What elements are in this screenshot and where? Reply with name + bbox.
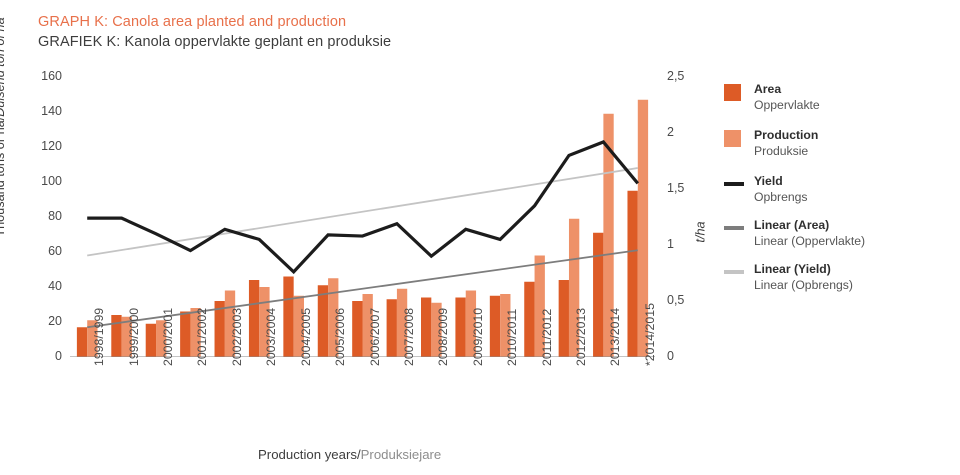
x-axis-tick-label: 1999/2000 [127,308,141,366]
chart-title-afrikaans: GRAFIEK K: Kanola oppervlakte geplant en… [38,34,391,50]
legend-label-af: Oppervlakte [754,97,820,113]
y-axis-right-tick: 1,5 [667,181,701,195]
legend-text: Linear (Area)Linear (Oppervlakte) [754,218,865,249]
legend-label-en: Area [754,82,820,97]
x-axis-tick-label: 2011/2012 [540,309,554,366]
y-axis-left-tick: 0 [28,349,62,363]
x-axis-tick-label: 2004/2005 [299,308,313,366]
y-axis-left-title: Thousand tons or ha/Duisend ton of ha [0,0,7,277]
legend-label-en: Production [754,128,818,143]
y-axis-right-tick: 0 [667,349,701,363]
trendline-yield [87,168,638,256]
y-axis-left-title-en: Thousand tons or ha/ [0,117,7,237]
bar-area [111,315,121,357]
bar-area [455,298,465,358]
y-axis-left-tick: 120 [28,139,62,153]
legend-label-af: Linear (Opbrengs) [754,277,853,293]
legend-label-af: Produksie [754,143,818,159]
x-axis-tick-label: 2001/2002 [195,308,209,366]
bar-area [593,233,603,357]
legend-label-en: Yield [754,174,808,189]
y-axis-right-tick: 2 [667,125,701,139]
x-axis-tick-label: 2009/2010 [471,308,485,366]
x-axis-tick-label: 2008/2009 [436,308,450,366]
chart-title-english: GRAPH K: Canola area planted and product… [38,14,346,30]
line-yield [87,142,638,272]
x-axis-title-af: Produksiejare [361,447,442,462]
x-axis-title: Production years/Produksiejare [258,447,441,462]
x-axis-tick-label: 2005/2006 [333,308,347,366]
y-axis-left-tick: 60 [28,244,62,258]
legend-line-icon [724,226,744,230]
y-axis-left-tick: 20 [28,314,62,328]
bar-area [490,296,500,357]
x-axis-tick-label: 2007/2008 [402,308,416,366]
legend-text: YieldOpbrengs [754,174,808,205]
x-axis-tick-label: *2014/2015 [643,303,657,366]
x-axis-tick-label: 2013/2014 [608,308,622,366]
bar-area [352,301,362,357]
legend-text: AreaOppervlakte [754,82,820,113]
legend-line-icon [724,182,744,186]
bar-area [77,327,87,357]
y-axis-left-tick: 100 [28,174,62,188]
y-axis-left-tick: 140 [28,104,62,118]
legend-label-af: Opbrengs [754,189,808,205]
legend-text: Linear (Yield)Linear (Opbrengs) [754,262,853,293]
legend-label-en: Linear (Area) [754,218,865,233]
x-axis-tick-label: 2010/2011 [505,309,519,366]
bar-area [283,277,293,358]
plot-area [70,77,655,357]
bar-area [559,280,569,357]
bar-area [421,298,431,358]
x-axis-tick-label: 2002/2003 [230,308,244,366]
chart-svg [70,77,655,357]
y-axis-right-tick: 2,5 [667,69,701,83]
x-axis-title-en: Production years/ [258,447,361,462]
chart-canvas: GRAPH K: Canola area planted and product… [0,0,960,475]
bar-area [249,280,259,357]
y-axis-left-tick: 40 [28,279,62,293]
legend-text: ProductionProduksie [754,128,818,159]
x-axis-tick-label: 2012/2013 [574,308,588,366]
legend-square-icon [724,130,741,147]
y-axis-left-tick: 80 [28,209,62,223]
y-axis-left-tick: 160 [28,69,62,83]
y-axis-right-tick: 1 [667,237,701,251]
legend-label-en: Linear (Yield) [754,262,853,277]
bar-area [318,285,328,357]
y-axis-left-title-af: Duisend ton of ha [0,17,7,116]
bar-area [146,324,156,357]
bar-area [627,191,637,357]
y-axis-right-tick: 0,5 [667,293,701,307]
legend-line-icon [724,270,744,274]
x-axis-tick-label: 2006/2007 [368,308,382,366]
legend-square-icon [724,84,741,101]
bar-area [524,282,534,357]
legend-label-af: Linear (Oppervlakte) [754,233,865,249]
bar-area [387,299,397,357]
x-axis-tick-label: 2000/2001 [161,308,175,366]
x-axis-tick-label: 1998/1999 [92,308,106,366]
x-axis-tick-label: 2003/2004 [264,308,278,366]
bar-area [180,312,190,358]
